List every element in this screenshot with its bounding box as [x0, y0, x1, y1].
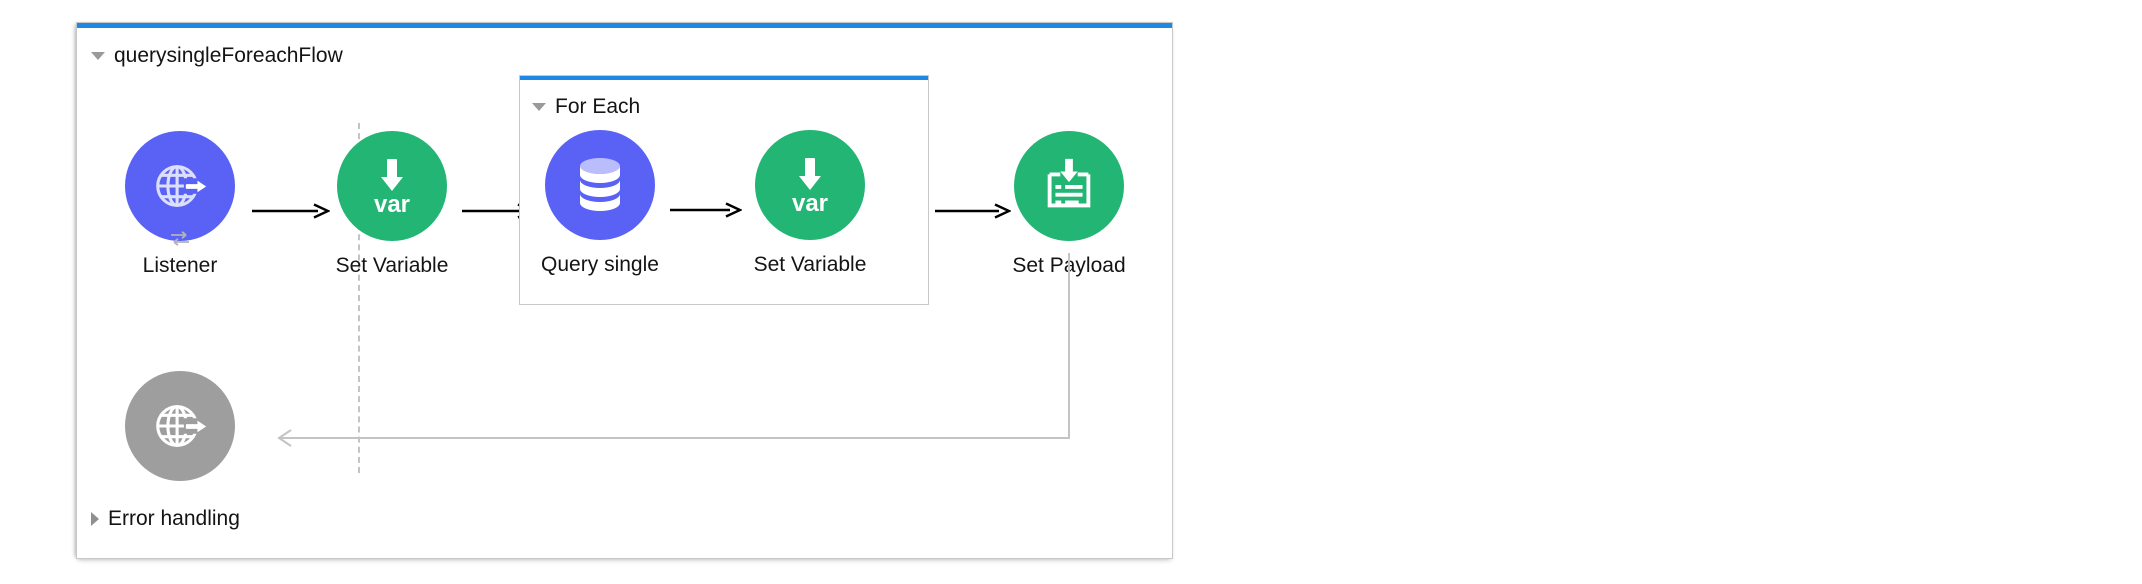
node-label-set-variable-1: Set Variable	[333, 255, 451, 276]
var-down-arrow-icon: var	[777, 152, 843, 218]
scope-title: For Each	[555, 96, 640, 117]
svg-text:var: var	[374, 191, 410, 218]
scope-for-each[interactable]: For Each Query single	[519, 75, 929, 305]
node-set-variable-1[interactable]: var Set Variable	[333, 131, 451, 276]
query-single-circle[interactable]	[545, 130, 655, 240]
node-query-single[interactable]: Query single	[541, 130, 659, 275]
connector-listener-to-setvar1	[252, 201, 330, 221]
flow-canvas: querysingleForeachFlow	[0, 0, 2142, 584]
globe-arrow-icon	[149, 395, 211, 457]
flow-container[interactable]: querysingleForeachFlow	[76, 22, 1173, 559]
set-variable-2-circle[interactable]: var	[755, 130, 865, 240]
set-payload-circle[interactable]	[1014, 131, 1124, 241]
node-label-set-variable-2: Set Variable	[751, 254, 869, 275]
node-set-variable-2[interactable]: var Set Variable	[751, 130, 869, 275]
response-circle[interactable]	[125, 371, 235, 481]
scope-header[interactable]: For Each	[532, 96, 640, 117]
node-label-set-payload: Set Payload	[1010, 255, 1128, 276]
scope-accent-bar	[520, 76, 928, 80]
node-listener[interactable]: Listener	[121, 131, 239, 276]
connector-querysingle-to-setvar2	[670, 200, 742, 220]
set-variable-1-circle[interactable]: var	[337, 131, 447, 241]
globe-arrow-icon	[149, 155, 211, 217]
error-handling-title: Error handling	[108, 508, 240, 529]
connector-foreach-to-setpayload	[935, 201, 1011, 221]
listener-circle[interactable]	[125, 131, 235, 241]
node-label-listener: Listener	[121, 255, 239, 276]
node-response[interactable]	[121, 371, 239, 481]
node-label-query-single: Query single	[541, 254, 659, 275]
error-handling-header[interactable]: Error handling	[91, 508, 240, 529]
triangle-down-icon[interactable]	[532, 103, 546, 111]
payload-icon	[1038, 155, 1100, 217]
refresh-icon	[167, 229, 193, 247]
triangle-down-icon[interactable]	[91, 52, 105, 60]
flow-header[interactable]: querysingleForeachFlow	[91, 45, 343, 66]
triangle-right-icon[interactable]	[91, 512, 99, 526]
flow-accent-bar	[77, 23, 1172, 28]
svg-text:var: var	[792, 190, 828, 217]
var-down-arrow-icon: var	[359, 153, 425, 219]
flow-title: querysingleForeachFlow	[114, 45, 343, 66]
database-icon	[572, 155, 628, 215]
node-set-payload[interactable]: Set Payload	[1010, 131, 1128, 276]
